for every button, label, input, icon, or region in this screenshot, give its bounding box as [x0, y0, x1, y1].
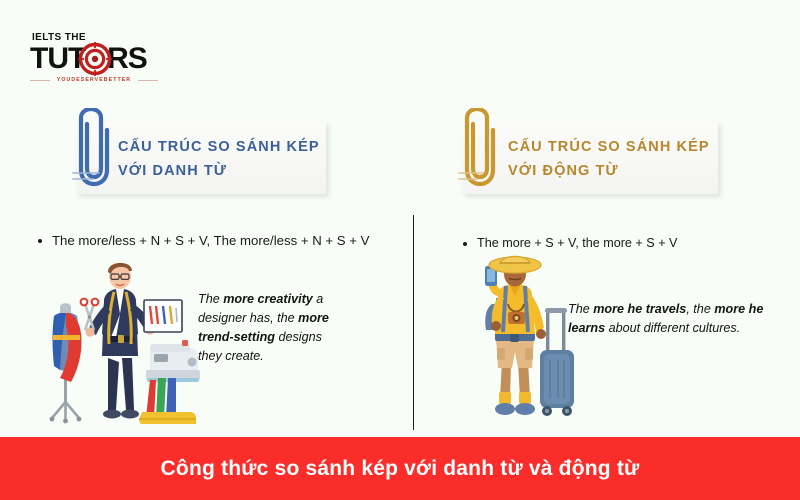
left-formula-row: The more/less + N + S + V, The more/less…: [38, 231, 369, 250]
logo-word-right: RS: [107, 42, 147, 75]
fabric-rolls-icon: [139, 378, 196, 424]
traveler-figure: [485, 257, 546, 416]
logo-tagline: YOUDESERVEBETTER: [30, 77, 158, 83]
left-example-sentence: The more creativity a designer has, the …: [198, 290, 343, 366]
left-heading-text: CẤU TRÚC SO SÁNH KÉP VỚI DANH TỪ: [118, 135, 320, 183]
mannequin-icon: [50, 303, 82, 423]
right-formula-text: The more + S + V, the more + S + V: [477, 234, 677, 253]
fashion-designer-illustration: [30, 252, 210, 434]
banner-title: Công thức so sánh kép với danh từ và độn…: [161, 457, 640, 481]
designer-figure: [81, 263, 182, 419]
right-heading-text: CẤU TRÚC SO SÁNH KÉP VỚI ĐỘNG TỪ: [508, 135, 710, 183]
sewing-machine-icon: [146, 340, 200, 382]
logo-word-left: TUT: [30, 42, 85, 75]
infographic-page: IELTS THE TUTORS YOUDESERVEBETTER CẤU TR…: [0, 0, 800, 500]
sketch-board-icon: [144, 300, 182, 332]
right-example-bold1: more he travels: [593, 302, 686, 316]
bottom-banner: Công thức so sánh kép với danh từ và độn…: [0, 437, 800, 500]
right-example-part2: , the: [686, 302, 714, 316]
suitcase-icon: [540, 308, 574, 416]
right-formula-row: The more + S + V, the more + S + V: [463, 234, 677, 253]
logo-wordmark: TUTORS: [30, 44, 160, 74]
traveler-with-suitcase-illustration: [466, 252, 598, 434]
bullet-dot-icon: [38, 239, 42, 243]
left-formula-text: The more/less + N + S + V, The more/less…: [52, 231, 369, 250]
right-example-part3: about different cultures.: [605, 321, 740, 335]
right-heading-card: CẤU TRÚC SO SÁNH KÉP VỚI ĐỘNG TỪ: [462, 122, 718, 194]
bullseye-target-icon: [78, 42, 112, 76]
left-example-bold1: more creativity: [223, 292, 313, 306]
clip-motion-lines: [458, 172, 492, 188]
vertical-divider: [413, 215, 414, 430]
brand-logo: IELTS THE TUTORS YOUDESERVEBETTER: [30, 32, 160, 92]
bullet-dot-icon: [463, 242, 467, 246]
clip-motion-lines: [72, 172, 106, 188]
right-example-sentence: The more he travels, the more he learns …: [568, 300, 768, 338]
left-heading-card: CẤU TRÚC SO SÁNH KÉP VỚI DANH TỪ: [76, 122, 326, 194]
